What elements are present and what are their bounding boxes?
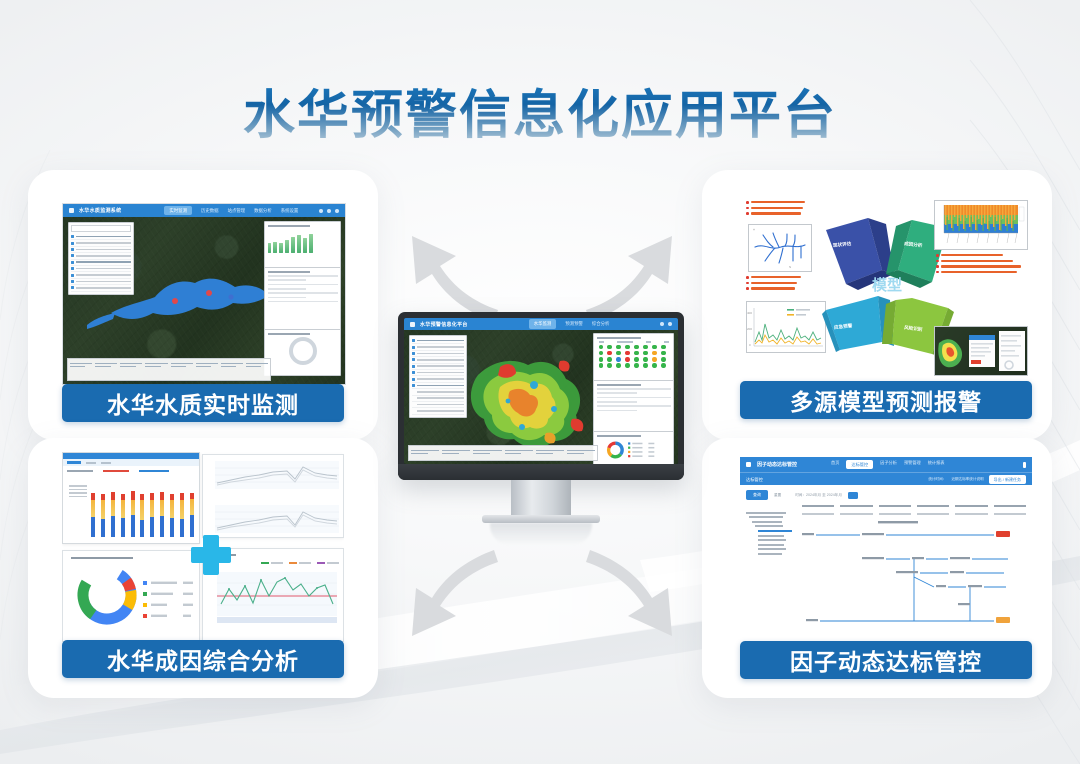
nav-item[interactable]: 综合分析: [592, 321, 610, 327]
date-range-label: 时间：2024年月 至 2024年月: [795, 493, 842, 498]
layer-item[interactable]: [71, 285, 131, 291]
layer-icon: [412, 365, 415, 368]
export-button[interactable]: 导出 / 新建任务: [989, 475, 1026, 484]
chart-panel-trend[interactable]: [264, 221, 341, 270]
table-row[interactable]: [802, 513, 1026, 515]
subheader-info-2: 近期达标率统计说明: [951, 477, 983, 482]
monitor-chin: [398, 464, 684, 480]
search-input[interactable]: [71, 225, 131, 232]
nav-item[interactable]: 因子分析: [880, 460, 897, 469]
layer-panel[interactable]: [68, 222, 134, 295]
app-nav[interactable]: 水华监测 预测预警 综合分析: [529, 319, 610, 328]
metrics-strip[interactable]: [67, 358, 271, 381]
arrow-down-right: [578, 540, 698, 650]
nav-item[interactable]: 系统设置: [281, 208, 299, 214]
layer-icon: [71, 274, 74, 277]
donut-panel[interactable]: [264, 329, 341, 376]
folder-icon: [412, 384, 415, 387]
nav-item[interactable]: 历史数据: [201, 208, 219, 214]
svg-text:+: +: [753, 228, 755, 232]
nav-item-active[interactable]: 达标管控: [846, 460, 873, 469]
svg-text:N: N: [789, 265, 791, 269]
screenshot-factor-compliance-control: 因子动态达标管控 首页 达标管控 因子分析 预警管理 统计报表 达标管控 统计时…: [740, 457, 1032, 639]
app-header-icons[interactable]: [319, 209, 339, 213]
arrow-down-left: [386, 540, 506, 650]
dot-icon: [412, 403, 415, 406]
layer-icon: [412, 346, 415, 349]
app-nav[interactable]: 实时监测 历史数据 站点管理 数据分析 系统设置: [164, 206, 298, 215]
center-monitor: 水华预警信息化平台 水华监测 预测预警 综合分析: [398, 312, 684, 542]
svg-text:200: 200: [747, 327, 752, 331]
panel-donut[interactable]: [62, 550, 200, 642]
risk-level-donut-panel[interactable]: [593, 431, 674, 464]
search-icon[interactable]: [848, 492, 858, 499]
nav-item[interactable]: 首页: [831, 460, 839, 469]
panel-title: [597, 435, 641, 437]
donut-chart: [597, 439, 671, 461]
caption-factor-compliance-control: 因子动态达标管控: [740, 641, 1032, 679]
folder-icon: [71, 235, 74, 238]
subheader-info-1: 统计时间：: [928, 477, 946, 482]
app-header: 水华预警信息化平台 水华监测 预测预警 综合分析: [404, 318, 678, 330]
question-bullet-list: [936, 254, 1028, 276]
panel-title: [597, 337, 641, 339]
status-badge-pass: [996, 617, 1010, 623]
nav-item[interactable]: 预测预警: [565, 321, 583, 327]
bullet-list-outputs: [746, 276, 801, 293]
layer-icon: [412, 378, 415, 381]
layer-icon: [412, 352, 415, 355]
layer-icon: [412, 358, 415, 361]
app-logo-icon: [746, 462, 751, 467]
table-header: [802, 505, 1026, 507]
gantt-flow-diagram: [798, 521, 1028, 631]
app-header: 因子动态达标管控 首页 达标管控 因子分析 预警管理 统计报表: [740, 457, 1032, 472]
dot-icon: [412, 390, 415, 393]
app-subheader: 达标管控 统计时间： 近期达标率统计说明 导出 / 新建任务: [740, 472, 1032, 486]
panel-line-charts[interactable]: [202, 454, 344, 538]
remote-sensing-thumbnail: [934, 326, 1028, 376]
layer-icon: [71, 286, 74, 289]
donut-chart: [289, 337, 317, 365]
map-legend-strip[interactable]: [408, 445, 598, 461]
layer-tree-panel[interactable]: [409, 335, 467, 418]
nav-item-active[interactable]: 实时监测: [164, 206, 192, 215]
station-detail-panel[interactable]: [593, 380, 674, 435]
user-icon[interactable]: [327, 209, 331, 213]
status-badge-exceed: [996, 531, 1010, 537]
nav-item[interactable]: 数据分析: [254, 208, 272, 214]
plus-icon: [188, 532, 234, 578]
panel-title: [268, 333, 310, 335]
monitor-screen[interactable]: 水华预警信息化平台 水华监测 预测预警 综合分析: [404, 318, 678, 464]
layer-icon: [412, 371, 415, 374]
page-title: 水华预警信息化应用平台: [0, 73, 1080, 148]
app-title: 水华预警信息化平台: [420, 321, 468, 328]
app-logo-icon: [410, 322, 415, 327]
svg-text:400: 400: [747, 311, 752, 315]
layer-icon: [71, 280, 74, 283]
filter-toolbar[interactable]: 查询 重置 时间：2024年月 至 2024年月: [740, 485, 1032, 505]
layer-icon: [71, 254, 74, 257]
caption-model-forecast-alarm: 多源模型预测报警: [740, 381, 1032, 419]
panel-title: [268, 271, 310, 273]
app-header-icons[interactable]: [660, 322, 672, 326]
dot-icon: [412, 409, 415, 412]
panel-stacked-bar[interactable]: [62, 452, 200, 544]
donut-chart: [63, 559, 199, 631]
status-dot-grid: [597, 345, 671, 368]
bar-legend: [69, 483, 87, 499]
status-matrix-panel[interactable]: [593, 333, 674, 384]
river-network-map: + N: [748, 224, 812, 272]
caption-realtime-monitoring: 水华水质实时监测: [62, 384, 344, 422]
stacked-bar-chart: [91, 483, 194, 537]
monitor-reflection: [490, 523, 592, 545]
model-center-label: 模型: [872, 276, 902, 294]
bell-icon[interactable]: [660, 322, 664, 326]
folder-icon: [71, 261, 74, 264]
gear-icon[interactable]: [335, 209, 339, 213]
nav-item[interactable]: 预警管理: [904, 460, 921, 469]
monitor-stand-base: [482, 515, 600, 523]
bullet-list-inputs: [746, 201, 805, 218]
query-button[interactable]: 查询: [746, 490, 768, 500]
screenshot-realtime-monitoring: 水华水质监测系统 实时监测 历史数据 站点管理 数据分析 系统设置: [62, 203, 346, 385]
user-icon[interactable]: [1023, 462, 1026, 468]
line-chart-top: [203, 455, 343, 496]
app-logo-icon: [69, 208, 74, 213]
layer-icon: [71, 242, 74, 245]
algae-density-heat-chart: [934, 200, 1028, 250]
monitor-frame: 水华预警信息化平台 水华监测 预测预警 综合分析: [398, 312, 684, 480]
reset-button[interactable]: 重置: [774, 493, 781, 498]
monitor-stand-neck: [511, 480, 571, 518]
panel-title: [597, 384, 641, 386]
region-tree[interactable]: [746, 509, 796, 558]
bell-icon[interactable]: [319, 209, 323, 213]
info-list-panel[interactable]: [264, 267, 341, 332]
nav-item-active[interactable]: 水华监测: [529, 319, 557, 328]
folder-icon: [412, 339, 415, 342]
nav-item[interactable]: 站点管理: [228, 208, 246, 214]
app-nav[interactable]: 首页 达标管控 因子分析 预警管理 统计报表: [831, 460, 944, 469]
screenshot-model-forecast-alarm: + N 400 200 0: [740, 196, 1032, 380]
layer-icon: [71, 248, 74, 251]
app-title: 水华水质监测系统: [79, 207, 121, 214]
panel-title: [268, 225, 310, 227]
dot-icon: [412, 397, 415, 400]
caption-cause-analysis: 水华成因综合分析: [62, 640, 344, 678]
app-header: 水华水质监测系统 实时监测 历史数据 站点管理 数据分析 系统设置: [63, 204, 345, 217]
nav-item[interactable]: 统计报表: [928, 460, 945, 469]
app-title: 因子动态达标管控: [757, 461, 797, 468]
subheader-title: 达标管控: [746, 477, 763, 483]
tree-item[interactable]: [412, 408, 464, 414]
svg-text:0: 0: [749, 343, 751, 347]
layer-icon: [71, 267, 74, 270]
bar-chart: [268, 229, 338, 253]
gear-icon[interactable]: [668, 322, 672, 326]
chlorophyll-density-chart: 400 200 0: [746, 301, 826, 353]
